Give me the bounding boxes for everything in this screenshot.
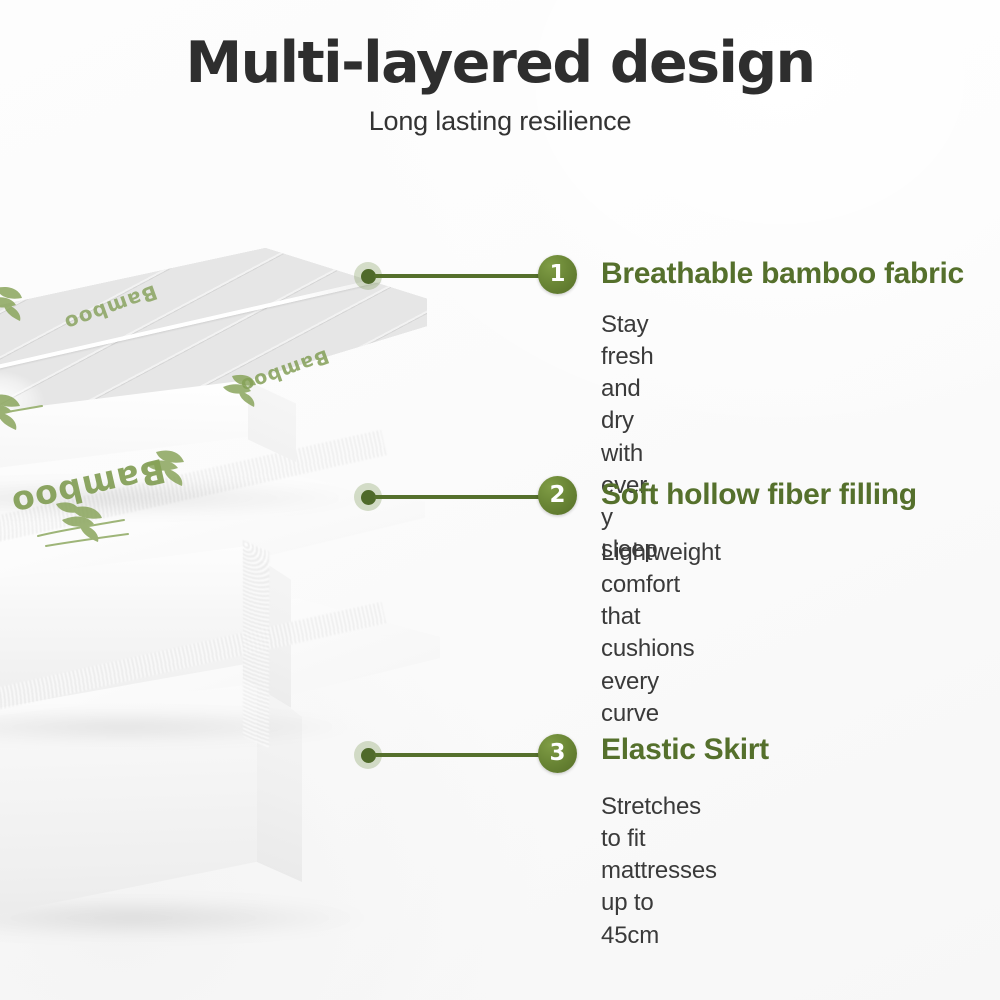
callout-3-body: Stretches to fit mattresses up to 45cm [601,791,717,952]
fibre-texture-right [243,540,269,748]
bamboo-leaf-icon [28,490,148,560]
callout-2-number-badge: 2 [538,476,577,515]
bamboo-leaf-icon [202,366,282,414]
fibre-front-face [0,546,385,736]
base-shadow [0,898,370,938]
callout-2-leader-line [374,495,544,499]
page-title: Multi-layered design [0,34,1000,93]
product-illustration: Bamboo Bamboo Bamboo [0,120,490,950]
callout-2-heading: Soft hollow fiber filling [601,478,917,512]
bamboo-leaf-icon [0,278,50,328]
callout-1-body: Stay fresh and dry with ever y sleep [601,309,658,566]
callout-3-leader-line [374,753,544,757]
fibre-shadow [0,710,355,744]
callout-1-heading: Breathable bamboo fabric [601,257,964,291]
infographic-canvas: Multi-layered design Long lasting resili… [0,0,1000,1000]
callout-3-number-badge: 3 [538,734,577,773]
bamboo-leaf-icon [122,440,214,494]
bamboo-leaf-icon [0,382,60,444]
callout-1-number-badge: 1 [538,255,577,294]
callout-2-body: Lightweight comfort that cushions every … [601,537,721,730]
callout-3-heading: Elastic Skirt [601,733,769,767]
callout-1-leader-line [374,274,544,278]
